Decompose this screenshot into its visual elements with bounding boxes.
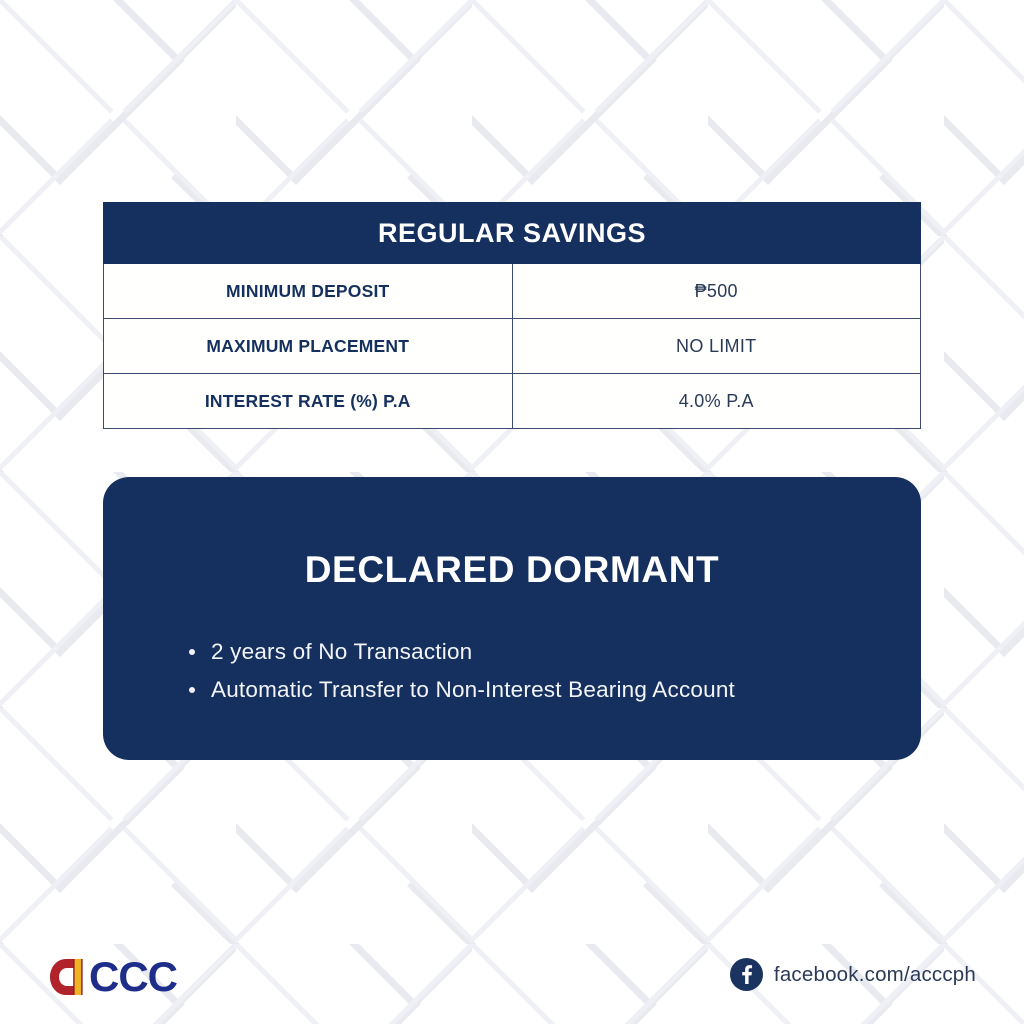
declared-dormant-title: DECLARED DORMANT [103, 477, 921, 591]
list-item: Automatic Transfer to Non-Interest Beari… [189, 671, 921, 709]
facebook-handle-text: facebook.com/acccph [774, 963, 976, 987]
row-label-minimum-deposit: MINIMUM DEPOSIT [104, 264, 513, 319]
accc-logo-wordmark: CCC [89, 956, 177, 998]
table-row: MINIMUM DEPOSIT ₱500 [104, 264, 921, 319]
facebook-icon[interactable] [730, 958, 763, 991]
row-label-interest-rate: INTEREST RATE (%) P.A [104, 374, 513, 429]
row-value-interest-rate: 4.0% P.A [512, 374, 921, 429]
declared-dormant-bullet-list: 2 years of No Transaction Automatic Tran… [103, 591, 921, 709]
row-label-maximum-placement: MAXIMUM PLACEMENT [104, 319, 513, 374]
accc-logo-mark-icon [48, 955, 88, 999]
declared-dormant-card: DECLARED DORMANT 2 years of No Transacti… [103, 477, 921, 760]
list-item: 2 years of No Transaction [189, 633, 921, 671]
accc-logo: CCC [48, 955, 177, 999]
facebook-handle[interactable]: facebook.com/acccph [730, 958, 976, 991]
row-value-minimum-deposit: ₱500 [512, 264, 921, 319]
table-row: INTEREST RATE (%) P.A 4.0% P.A [104, 374, 921, 429]
row-value-maximum-placement: NO LIMIT [512, 319, 921, 374]
regular-savings-table: REGULAR SAVINGS MINIMUM DEPOSIT ₱500 MAX… [103, 202, 921, 429]
table-row: MAXIMUM PLACEMENT NO LIMIT [104, 319, 921, 374]
table-header-row: REGULAR SAVINGS [104, 203, 921, 264]
slide-canvas: REGULAR SAVINGS MINIMUM DEPOSIT ₱500 MAX… [0, 0, 1024, 1024]
table-title: REGULAR SAVINGS [104, 203, 921, 264]
